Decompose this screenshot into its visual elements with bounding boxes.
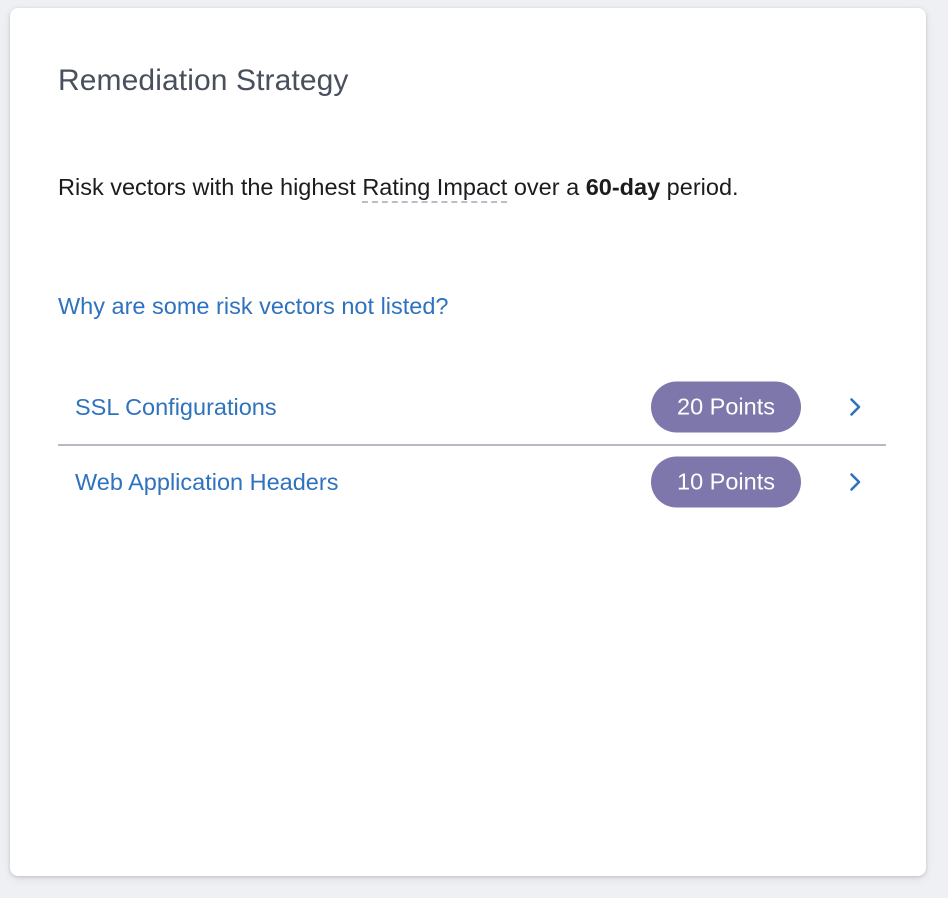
chevron-right-icon[interactable]: [844, 471, 866, 493]
description-suffix: period.: [660, 174, 738, 200]
description-text: Risk vectors with the highest Rating Imp…: [58, 166, 858, 208]
period-emphasis: 60-day: [586, 174, 660, 200]
description-middle: over a: [507, 174, 585, 200]
risk-vector-list: SSL Configurations 20 Points Web Applica…: [58, 370, 886, 518]
why-not-listed-link[interactable]: Why are some risk vectors not listed?: [58, 289, 449, 323]
page-title: Remediation Strategy: [58, 64, 349, 98]
risk-vector-link-web-application-headers[interactable]: Web Application Headers: [75, 469, 338, 496]
points-badge: 20 Points: [651, 382, 801, 433]
chevron-right-icon[interactable]: [844, 396, 866, 418]
rating-impact-term[interactable]: Rating Impact: [362, 174, 507, 203]
description-prefix: Risk vectors with the highest: [58, 174, 362, 200]
points-badge: 10 Points: [651, 457, 801, 508]
risk-vector-row-web-application-headers[interactable]: Web Application Headers 10 Points: [58, 444, 886, 518]
remediation-strategy-card: Remediation Strategy Risk vectors with t…: [10, 8, 926, 876]
risk-vector-row-ssl-configurations[interactable]: SSL Configurations 20 Points: [58, 370, 886, 444]
risk-vector-link-ssl-configurations[interactable]: SSL Configurations: [75, 394, 277, 421]
